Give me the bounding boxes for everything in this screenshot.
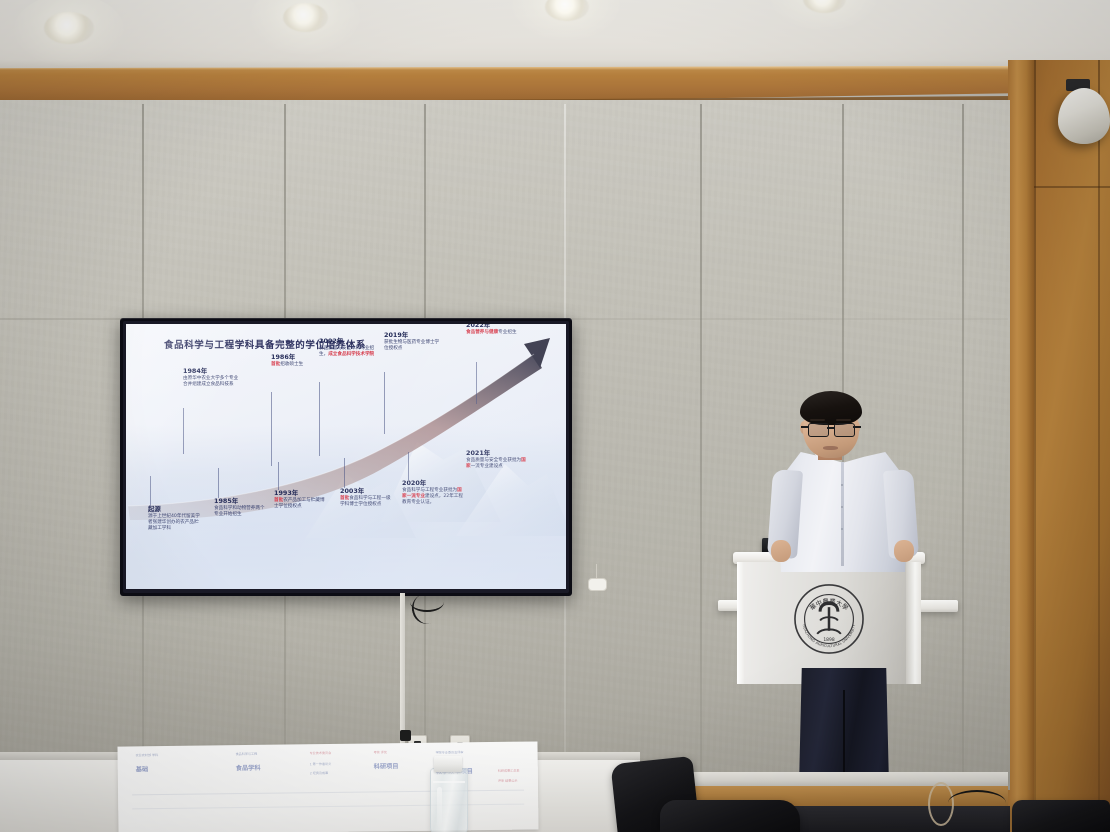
timeline-stem-1986 xyxy=(271,392,272,466)
hanging-device[interactable] xyxy=(588,578,607,591)
glasses-left-arm xyxy=(801,426,809,428)
paper-line: 学院专业委员会评审 xyxy=(436,751,464,755)
timeline-desc: 由原华中农业大学多个专业合并组建成立食品科技系 xyxy=(183,376,241,388)
svg-text:1898: 1898 xyxy=(823,637,834,643)
timeline-item-1993: 1993年 首批农产品加工与贮藏博士学位授权点 xyxy=(274,490,328,510)
university-emblem-icon: 1898 華中農業大學 HUAZHONG AGRICULTURAL UNIVER… xyxy=(792,582,866,656)
timeline-desc: 食品质量与安全本科专业招生，成立食品科学技术学院 xyxy=(319,346,375,358)
bottle-cap xyxy=(434,756,462,772)
timeline-year: 1984年 xyxy=(183,368,241,375)
timeline-desc: 首批招收硕士生 xyxy=(271,362,329,368)
timeline-year: 起源 xyxy=(148,506,200,513)
timeline-year: 2002年 xyxy=(319,338,375,345)
timeline-stem-1985 xyxy=(218,468,219,498)
wood-column xyxy=(1008,60,1034,832)
downlight-icon-2 xyxy=(283,3,328,32)
timeline-item-1984: 1984年 由原华中农业大学多个专业合并组建成立食品科技系 xyxy=(183,368,241,388)
downlight-icon-1 xyxy=(44,12,94,44)
glasses-right-lens xyxy=(834,423,855,437)
timeline-desc: 食品营养与健康专业招生 xyxy=(466,330,524,336)
paper-line: 科研项目 xyxy=(374,763,399,771)
timeline-stem-1984 xyxy=(183,408,184,454)
timeline-desc: 源于上世纪40年代留美学者张建华创办的农产品贮藏加工学科 xyxy=(148,514,200,532)
paper-line: 基础 xyxy=(136,766,148,774)
glasses-bridge xyxy=(827,427,834,429)
presenter-left-hand xyxy=(771,540,791,562)
paper-line: 1 第一作者论文 xyxy=(310,763,332,767)
timeline-item-2019: 2019年 获批生物与医药专业博士学位授权点 xyxy=(384,332,442,352)
timeline-stem-2019 xyxy=(384,372,385,434)
paper-line: 专业技术委员会 xyxy=(310,752,332,756)
handout-paper[interactable]: 农业农村部 学科 基础 食品科学与工程 食品学科 专业技术委员会 1 第一作者论… xyxy=(117,741,538,832)
timeline-item-2021: 2021年 食品质量与安全专业获批为国家一流专业建设点 xyxy=(466,450,528,470)
paper-line: 食品学科 xyxy=(236,765,261,773)
power-plug xyxy=(400,730,411,741)
chair-seat-left[interactable] xyxy=(660,800,800,832)
lectern-right-edge xyxy=(906,562,921,684)
timeline-stem-origin xyxy=(150,476,151,506)
paper-line: 2 经费及成果 xyxy=(310,772,328,776)
timeline-desc: 首批农产品加工与贮藏博士学位授权点 xyxy=(274,498,328,510)
paper-line: 考核 评优 xyxy=(374,751,387,755)
timeline-desc: 食品科学与工程专业获批为国家一流专业建设点，22年工程教育专业认证。 xyxy=(402,488,464,506)
presentation-room-photo: 食品科学与工程学科具备完整的学位培养体系 xyxy=(0,0,1110,832)
wood-seam-horizontal xyxy=(1034,186,1110,188)
timeline-year: 1985年 xyxy=(214,498,266,505)
tv-screen: 食品科学与工程学科具备完整的学位培养体系 xyxy=(126,324,566,589)
water-bottle[interactable] xyxy=(430,768,468,832)
glasses-left-lens xyxy=(808,423,829,437)
timeline-year: 2020年 xyxy=(402,480,464,487)
wall-mounted-tv[interactable]: 食品科学与工程学科具备完整的学位培养体系 xyxy=(120,318,572,596)
timeline-stem-2020 xyxy=(408,452,409,480)
presentation-slide: 食品科学与工程学科具备完整的学位培养体系 xyxy=(126,324,566,589)
presenter-mouth xyxy=(823,446,838,450)
shirt-button-1 xyxy=(841,484,843,486)
presenter-right-hand xyxy=(894,540,914,562)
timeline-stem-2022 xyxy=(476,362,477,404)
timeline-stem-1993 xyxy=(278,462,279,490)
timeline-year: 2003年 xyxy=(340,488,392,495)
tv-mount-pole xyxy=(400,593,405,753)
presenter-right-brow xyxy=(836,419,851,421)
paper-line: 科研成果汇总表 xyxy=(498,770,520,774)
timeline-item-1985: 1985年 食品科学和动物营养两个专业开始招生 xyxy=(214,498,266,518)
lectern-left-edge xyxy=(737,562,744,684)
floor-cable xyxy=(948,790,1006,816)
timeline-item-origin: 起源 源于上世纪40年代留美学者张建华创办的农产品贮藏加工学科 xyxy=(148,506,200,532)
timeline-desc: 获批生物与医药专业博士学位授权点 xyxy=(384,340,442,352)
paper-line: 食品科学与工程 xyxy=(236,753,258,757)
timeline-item-2022: 2022年 食品营养与健康专业招生 xyxy=(466,324,524,336)
paper-line: 农业农村部 学科 xyxy=(136,754,159,758)
timeline-stem-2002 xyxy=(319,382,320,456)
timeline-year: 1993年 xyxy=(274,490,328,497)
wall-panel-seam-5 xyxy=(700,104,702,776)
glasses-right-arm xyxy=(853,426,861,428)
wood-seam-2 xyxy=(1098,60,1100,832)
timeline-item-2002: 2002年 食品质量与安全本科专业招生，成立食品科学技术学院 xyxy=(319,338,375,358)
chair-right[interactable] xyxy=(1012,800,1110,832)
shirt-button-3 xyxy=(841,528,843,530)
timeline-year: 2021年 xyxy=(466,450,528,457)
timeline-desc: 食品科学和动物营养两个专业开始招生 xyxy=(214,506,266,518)
timeline-item-2020: 2020年 食品科学与工程专业获批为国家一流专业建设点，22年工程教育专业认证。 xyxy=(402,480,464,506)
timeline-desc: 食品质量与安全专业获批为国家一流专业建设点 xyxy=(466,458,528,470)
timeline-year: 2022年 xyxy=(466,324,524,329)
tv-cable-loop xyxy=(410,592,444,612)
wall-panel-seam-7 xyxy=(962,104,964,776)
shirt-button-2 xyxy=(841,506,843,508)
timeline-stem-2003 xyxy=(344,458,345,488)
timeline-item-2003: 2003年 首批食品科学与工程一级学科博士学位授权点 xyxy=(340,488,392,508)
presenter-left-brow xyxy=(810,419,825,421)
paper-line: 评审 结果公示 xyxy=(498,780,518,784)
shirt-placket xyxy=(841,462,844,566)
wood-seam-1 xyxy=(1034,60,1036,832)
timeline-desc: 首批食品科学与工程一级学科博士学位授权点 xyxy=(340,496,392,508)
timeline-year: 2019年 xyxy=(384,332,442,339)
